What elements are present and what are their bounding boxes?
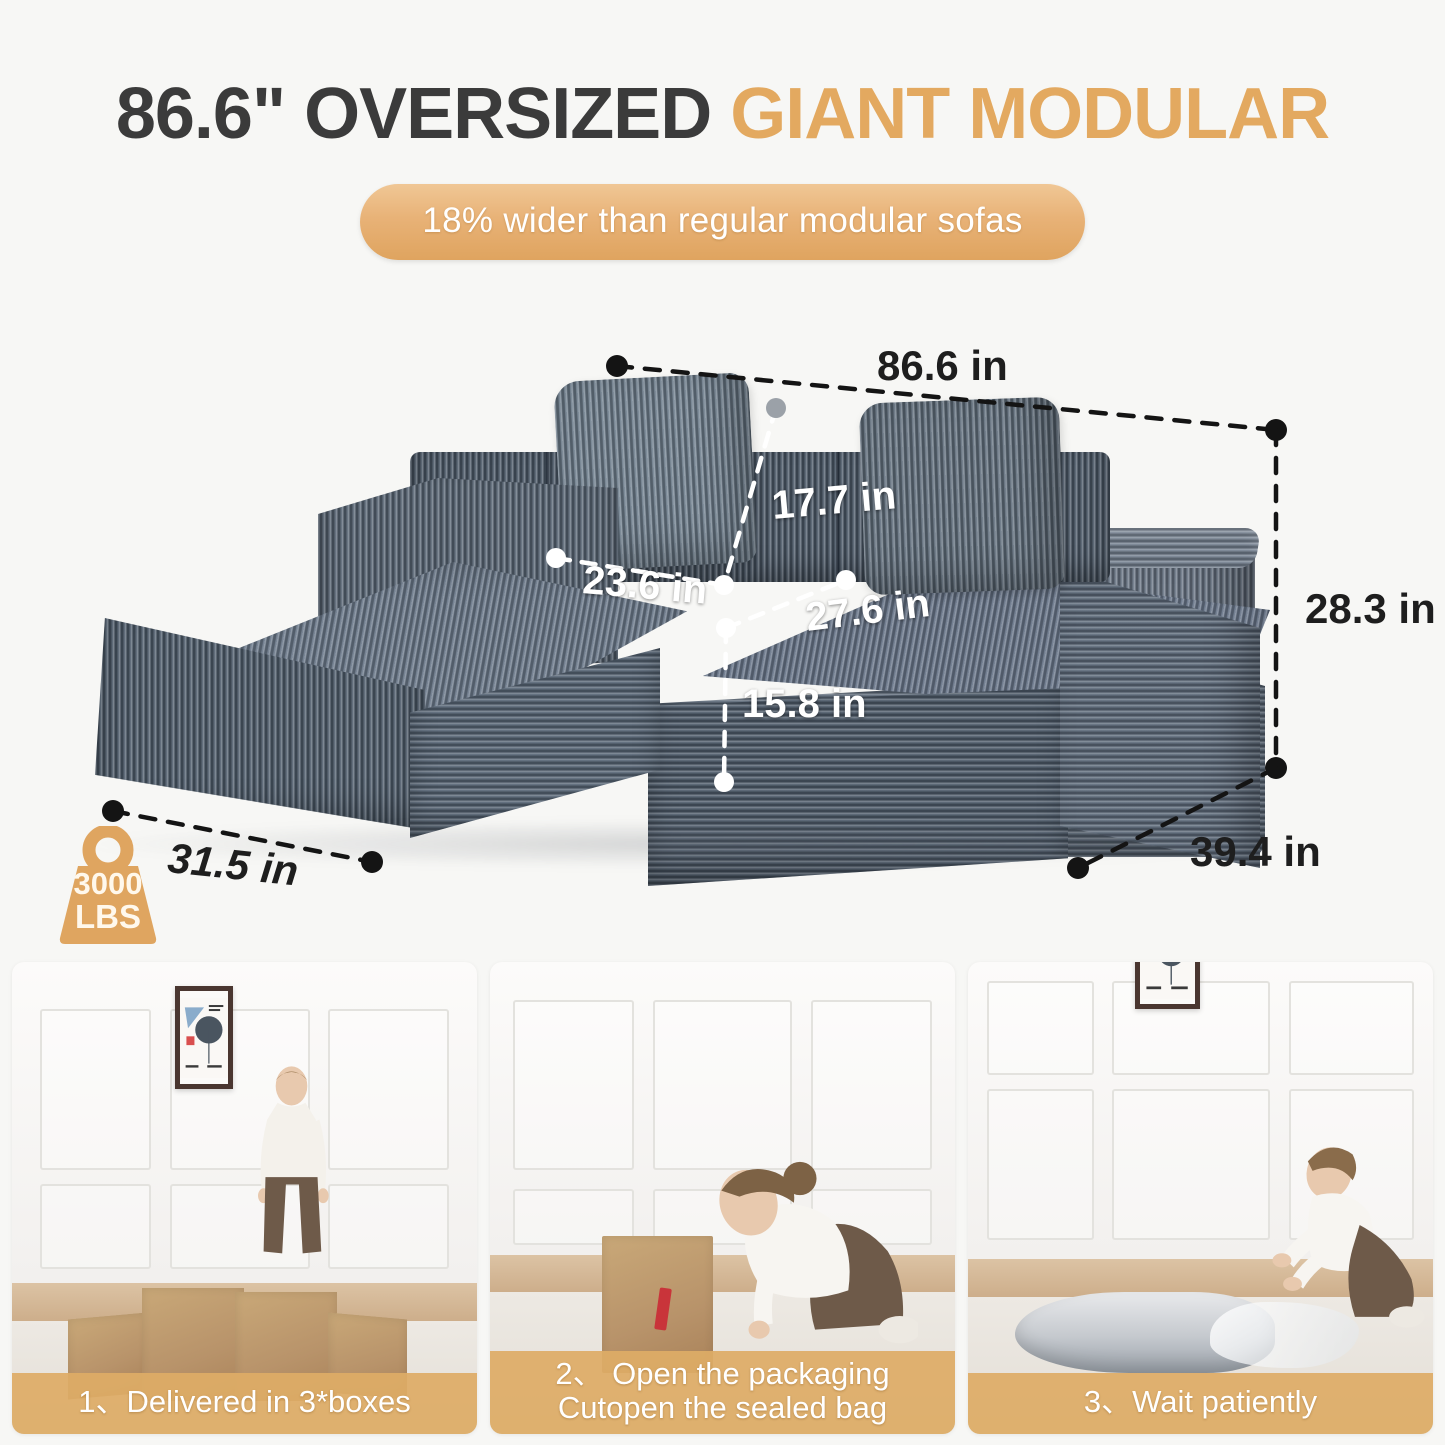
weight-capacity-badge: 3000 LBS xyxy=(48,826,168,946)
wall-molding xyxy=(40,1009,152,1169)
wall-molding xyxy=(811,1000,932,1170)
step-3-scene xyxy=(968,962,1433,1434)
headline-gold-part: GIANT MODULAR xyxy=(730,74,1329,154)
wall-molding xyxy=(328,1009,449,1169)
step-3-caption: 3、Wait patiently xyxy=(968,1373,1433,1434)
subtitle-badge: 18% wider than regular modular sofas xyxy=(360,184,1084,260)
subtitle-text: 18% wider than regular modular sofas xyxy=(422,201,1022,240)
header-section: 86.6" OVERSIZED GIANT MODULAR 18% wider … xyxy=(0,0,1445,260)
bauhaus-poster xyxy=(180,991,228,1085)
step-1-scene xyxy=(12,962,477,1434)
page-title: 86.6" OVERSIZED GIANT MODULAR xyxy=(0,78,1445,150)
wall-molding xyxy=(328,1184,449,1269)
sofa-back-pillow-right xyxy=(859,397,1066,596)
step-panel-1[interactable]: 1、Delivered in 3*boxes xyxy=(12,962,477,1434)
wall-molding xyxy=(653,1000,793,1170)
weight-number: 3000 xyxy=(48,868,168,900)
sofa-ground-shadow xyxy=(90,820,1270,868)
step-panel-2[interactable]: 2、 Open the packaging Cutopen the sealed… xyxy=(490,962,955,1434)
product-hero-image xyxy=(0,300,1445,950)
step-1-caption: 1、Delivered in 3*boxes xyxy=(12,1373,477,1434)
wall-molding xyxy=(987,981,1094,1075)
wall-art-frame xyxy=(1135,962,1200,1009)
step-2-caption: 2、 Open the packaging Cutopen the sealed… xyxy=(490,1351,955,1434)
wall-molding xyxy=(987,1089,1094,1240)
wall-molding xyxy=(1289,981,1415,1075)
unboxing-steps-row: 1、Delivered in 3*boxes xyxy=(12,962,1433,1434)
wall-art-frame xyxy=(175,986,233,1090)
step-panel-3[interactable]: 3、Wait patiently xyxy=(968,962,1433,1434)
wall-molding xyxy=(40,1184,152,1269)
weight-badge-text: 3000 LBS xyxy=(48,868,168,933)
weight-unit: LBS xyxy=(48,900,168,934)
step-2-caption-line-1: 2、 Open the packaging xyxy=(494,1357,951,1392)
sofa-backrest-seam-2 xyxy=(836,452,839,582)
step-2-caption-line-2: Cutopen the sealed bag xyxy=(494,1391,951,1426)
person-kneeling xyxy=(1256,1094,1433,1387)
bauhaus-poster xyxy=(1140,962,1195,1004)
wall-molding xyxy=(1112,1089,1270,1240)
headline-dark-part: 86.6" OVERSIZED xyxy=(116,74,730,154)
wall-molding xyxy=(513,1000,634,1170)
